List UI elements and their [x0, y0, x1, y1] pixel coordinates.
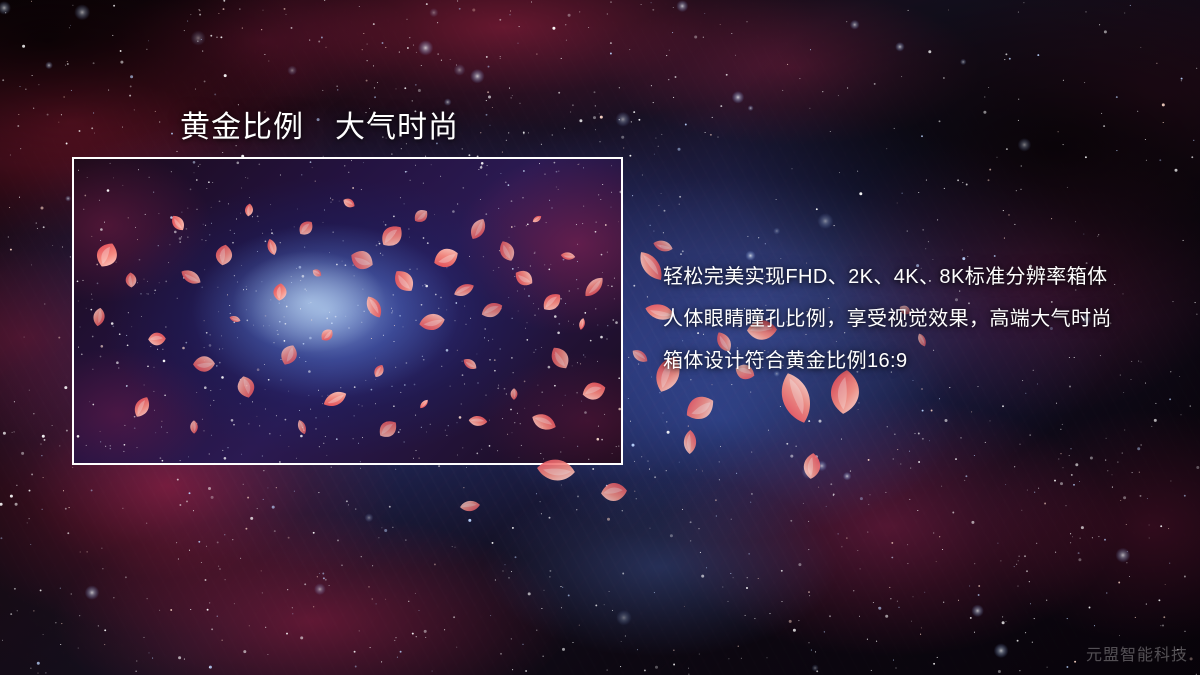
framed-galaxy-photo — [72, 157, 623, 465]
description-block: 轻松完美实现FHD、2K、4K、8K标准分辨率箱体 人体眼睛瞳孔比例，享受视觉效… — [663, 256, 1163, 382]
page-title: 黄金比例 大气时尚 — [180, 102, 459, 146]
description-line-1: 轻松完美实现FHD、2K、4K、8K标准分辨率箱体 — [663, 256, 1163, 298]
description-line-3: 箱体设计符合黄金比例16:9 — [663, 340, 1163, 382]
description-line-2: 人体眼睛瞳孔比例，享受视觉效果，高端大气时尚 — [663, 298, 1163, 340]
company-watermark: 元盟智能科技 — [1086, 641, 1188, 665]
presentation-slide: 黄金比例 大气时尚 轻松完美实现FHD、2K、4K、8K标准分辨率箱体 人体眼睛… — [0, 0, 1200, 675]
photo-inner — [74, 159, 621, 463]
photo-nebula-background — [74, 159, 621, 463]
